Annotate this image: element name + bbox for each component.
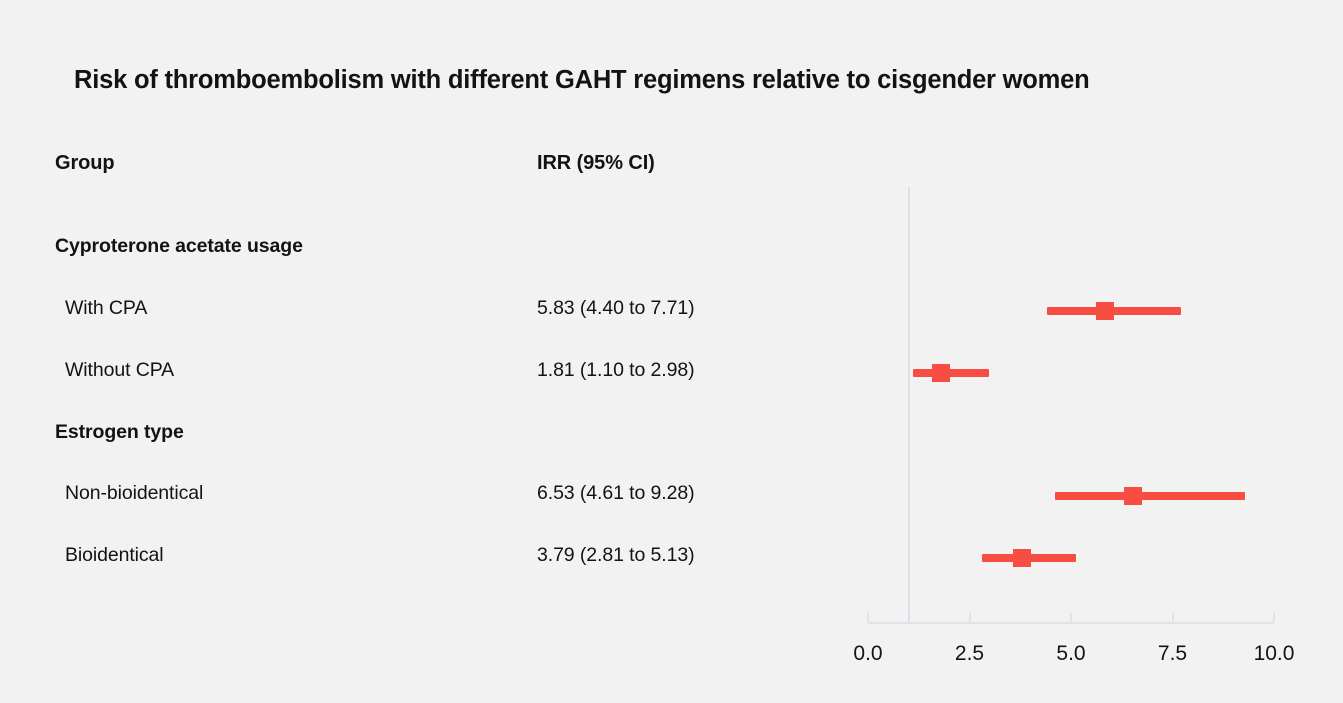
row-estimate-bioidentical: 3.79 (2.81 to 5.13) <box>537 544 694 567</box>
x-axis-tick-label-10.0: 10.0 <box>1254 642 1295 666</box>
point-estimate-with-cpa <box>1096 302 1114 320</box>
section-header-estrogen-type: Estrogen type <box>55 421 184 444</box>
forest-plot: 0.02.55.07.510.0 <box>0 0 1343 703</box>
page-title-strong: Risk of thromboembolism with different G… <box>74 66 745 94</box>
x-axis-tick-7.5 <box>1172 613 1174 622</box>
confidence-interval-non-bioidentical <box>1055 492 1245 500</box>
reference-line <box>908 187 910 622</box>
column-header-group: Group <box>55 152 115 175</box>
row-label-bioidentical: Bioidentical <box>65 544 164 567</box>
section-header-cyproterone-acetate-usage: Cyproterone acetate usage <box>55 235 303 258</box>
x-axis-tick-0.0 <box>867 613 869 622</box>
x-axis-tick-label-2.5: 2.5 <box>955 642 984 666</box>
row-estimate-non-bioidentical: 6.53 (4.61 to 9.28) <box>537 482 694 505</box>
page-title: Risk of thromboembolism with different G… <box>74 66 1090 95</box>
x-axis-line <box>868 622 1274 624</box>
row-label-with-cpa: With CPA <box>65 297 147 320</box>
point-estimate-without-cpa <box>932 364 950 382</box>
confidence-interval-with-cpa <box>1047 307 1181 315</box>
row-label-non-bioidentical: Non-bioidentical <box>65 482 203 505</box>
page-title-light: relative to cisgender women <box>745 66 1089 94</box>
row-label-without-cpa: Without CPA <box>65 359 174 382</box>
confidence-interval-without-cpa <box>913 369 989 377</box>
point-estimate-non-bioidentical <box>1124 487 1142 505</box>
point-estimate-bioidentical <box>1013 549 1031 567</box>
x-axis-tick-5.0 <box>1070 613 1072 622</box>
column-header-estimate: IRR (95% CI) <box>537 152 655 175</box>
x-axis-tick-label-7.5: 7.5 <box>1158 642 1187 666</box>
x-axis-tick-label-0.0: 0.0 <box>853 642 882 666</box>
x-axis-tick-2.5 <box>969 613 971 622</box>
x-axis-tick-label-5.0: 5.0 <box>1056 642 1085 666</box>
row-estimate-with-cpa: 5.83 (4.40 to 7.71) <box>537 297 694 320</box>
row-estimate-without-cpa: 1.81 (1.10 to 2.98) <box>537 359 694 382</box>
x-axis-tick-10.0 <box>1273 613 1275 622</box>
confidence-interval-bioidentical <box>982 554 1076 562</box>
